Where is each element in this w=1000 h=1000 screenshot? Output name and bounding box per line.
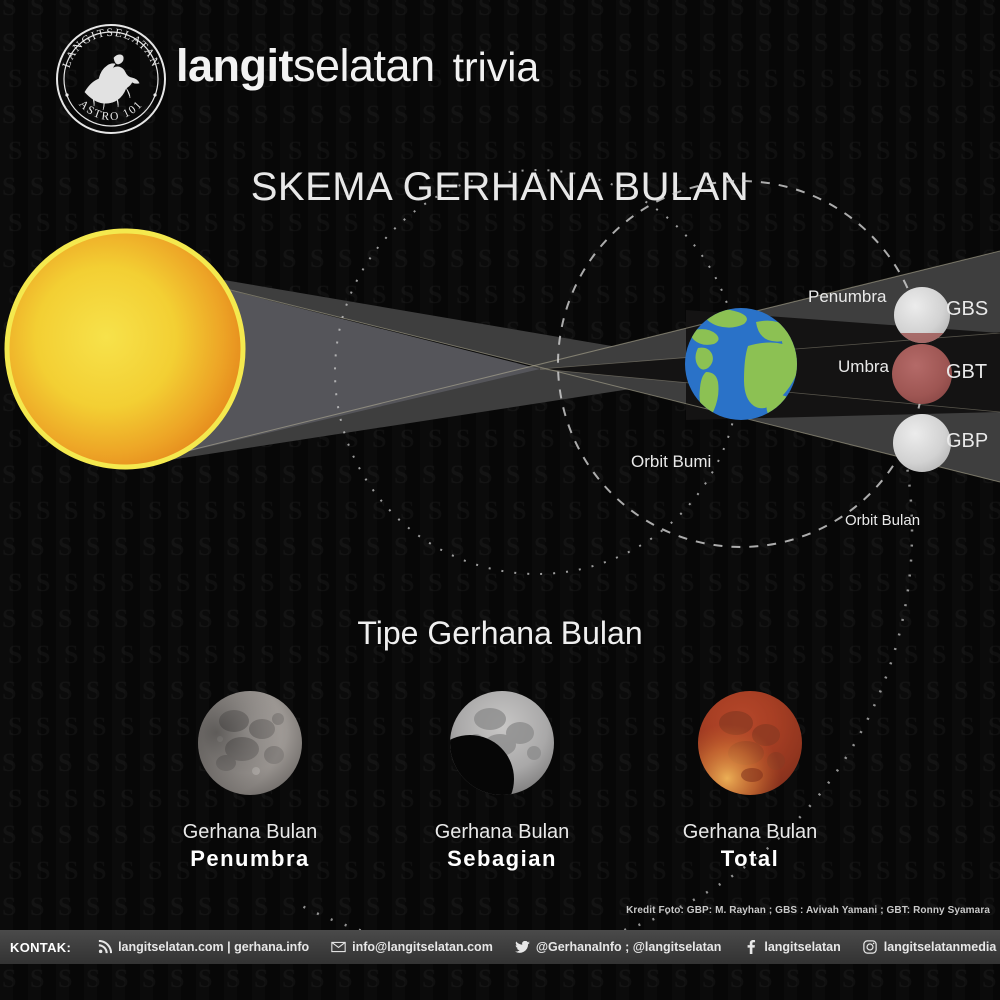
- label-gbp: GBP: [946, 430, 988, 453]
- moon-penumbral-photo: [190, 683, 310, 803]
- type-label-line2: Sebagian: [392, 846, 612, 872]
- label-umbra: Umbra: [838, 357, 889, 377]
- photo-credit: Kredit Foto: GBP: M. Rayhan ; GBS : Aviv…: [0, 905, 990, 916]
- footer-item-text: langitselatan.com | gerhana.info: [118, 940, 309, 954]
- eclipse-type-card: Gerhana Bulan Sebagian: [392, 683, 612, 872]
- moon-marker-gbp: [893, 414, 951, 472]
- footer-item-website[interactable]: langitselatan.com | gerhana.info: [97, 940, 309, 955]
- eclipse-type-card: Gerhana Bulan Total: [640, 683, 860, 872]
- footer-item-facebook[interactable]: langitselatan: [743, 940, 840, 955]
- footer-item-email[interactable]: info@langitselatan.com: [331, 940, 493, 955]
- instagram-icon: [863, 940, 878, 955]
- rss-icon: [97, 940, 112, 955]
- envelope-icon: [331, 940, 346, 955]
- moon-partial-photo: [442, 683, 562, 803]
- footer-item-text: langitselatanmedia: [884, 940, 997, 954]
- infographic-page: SSSSSSSSSSSSSSSSSSSSSSSSSSSSSSSSSSSSSSSS…: [0, 0, 1000, 1000]
- footer-item-twitter[interactable]: @GerhanaInfo ; @langitselatan: [515, 940, 722, 955]
- type-label-line1: Gerhana Bulan: [640, 821, 860, 844]
- footer-item-text: @GerhanaInfo ; @langitselatan: [536, 940, 722, 954]
- type-label-line1: Gerhana Bulan: [140, 821, 360, 844]
- label-penumbra: Penumbra: [808, 287, 886, 307]
- footer-item-text: info@langitselatan.com: [352, 940, 493, 954]
- type-label-line1: Gerhana Bulan: [392, 821, 612, 844]
- facebook-icon: [743, 940, 758, 955]
- footer-item-text: langitselatan: [764, 940, 840, 954]
- kontak-label: KONTAK:: [0, 940, 97, 955]
- footer-item-instagram[interactable]: langitselatanmedia: [863, 940, 997, 955]
- type-label-line2: Total: [640, 846, 860, 872]
- type-label-line2: Penumbra: [140, 846, 360, 872]
- types-title: Tipe Gerhana Bulan: [0, 615, 1000, 652]
- label-orbit-bumi: Orbit Bumi: [631, 452, 711, 472]
- label-gbs: GBS: [946, 298, 988, 321]
- twitter-icon: [515, 940, 530, 955]
- label-gbt: GBT: [946, 361, 987, 384]
- label-orbit-bulan: Orbit Bulan: [845, 512, 920, 529]
- sun: [7, 231, 243, 467]
- moon-marker-gbt: [892, 344, 952, 404]
- contact-footer: KONTAK: langitselatan.com | gerhana.info…: [0, 930, 1000, 964]
- eclipse-type-card: Gerhana Bulan Penumbra: [140, 683, 360, 872]
- moon-total-photo: [690, 683, 810, 803]
